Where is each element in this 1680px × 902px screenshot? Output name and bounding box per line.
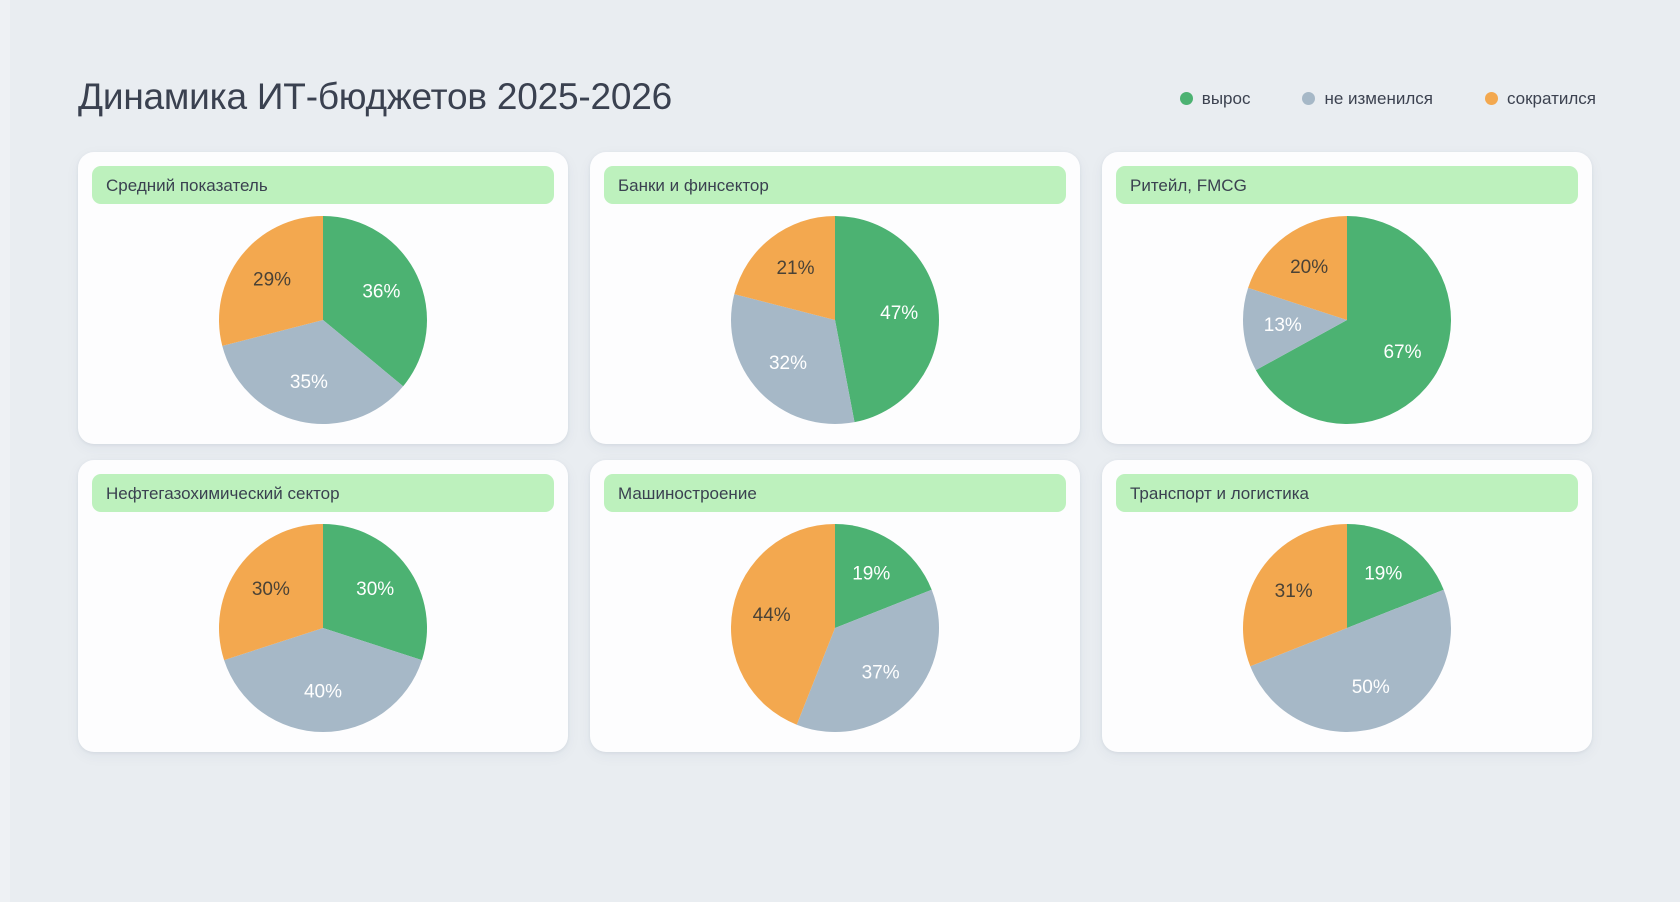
pie-chart: 67%13%20% bbox=[1237, 210, 1457, 430]
chart-area: 30%40%30% bbox=[92, 512, 554, 742]
pie-slice-label-1: 37% bbox=[862, 663, 900, 684]
pie-slice-label-0: 67% bbox=[1383, 342, 1421, 363]
card-title-pill: Нефтегазохимический сектор bbox=[92, 474, 554, 512]
pie-slice-label-0: 30% bbox=[356, 579, 394, 600]
legend-item-1[interactable]: не изменился bbox=[1302, 90, 1433, 107]
card-title-pill: Банки и финсектор bbox=[604, 166, 1066, 204]
pie-slice-label-2: 30% bbox=[252, 579, 290, 600]
pie-card: Нефтегазохимический сектор30%40%30% bbox=[78, 460, 568, 752]
dashboard-header: Динамика ИТ-бюджетов 2025-2026 выросне и… bbox=[78, 66, 1600, 128]
pie-slice-label-0: 36% bbox=[362, 282, 400, 303]
pie-card: Транспорт и логистика19%50%31% bbox=[1102, 460, 1592, 752]
card-title: Нефтегазохимический сектор bbox=[106, 485, 340, 502]
card-title-pill: Средний показатель bbox=[92, 166, 554, 204]
legend-item-0[interactable]: вырос bbox=[1180, 90, 1251, 107]
card-title-pill: Транспорт и логистика bbox=[1116, 474, 1578, 512]
pie-slice-label-1: 40% bbox=[304, 681, 342, 702]
legend-item-2[interactable]: сократился bbox=[1485, 90, 1596, 107]
pie-chart: 19%37%44% bbox=[725, 518, 945, 738]
chart-legend: выросне изменилсясократился bbox=[1180, 88, 1600, 107]
pie-slice-label-2: 44% bbox=[753, 605, 791, 626]
pie-card: Ритейл, FMCG67%13%20% bbox=[1102, 152, 1592, 444]
pie-slice-label-0: 47% bbox=[880, 303, 918, 324]
pie-chart: 30%40%30% bbox=[213, 518, 433, 738]
card-title: Транспорт и логистика bbox=[1130, 485, 1309, 502]
pie-slice-label-2: 20% bbox=[1290, 257, 1328, 278]
card-title-pill: Машиностроение bbox=[604, 474, 1066, 512]
card-title: Банки и финсектор bbox=[618, 177, 769, 194]
pie-card-grid: Средний показатель36%35%29%Банки и финсе… bbox=[78, 152, 1602, 752]
legend-item-label: вырос bbox=[1202, 90, 1251, 107]
pie-slice-label-2: 21% bbox=[776, 258, 814, 279]
page-title: Динамика ИТ-бюджетов 2025-2026 bbox=[78, 77, 672, 118]
pie-card: Банки и финсектор47%32%21% bbox=[590, 152, 1080, 444]
pie-chart: 19%50%31% bbox=[1237, 518, 1457, 738]
pie-slice-label-0: 19% bbox=[1364, 564, 1402, 585]
legend-item-label: не изменился bbox=[1324, 90, 1433, 107]
pie-card: Машиностроение19%37%44% bbox=[590, 460, 1080, 752]
chart-area: 67%13%20% bbox=[1116, 204, 1578, 434]
card-title: Ритейл, FMCG bbox=[1130, 177, 1247, 194]
pie-slice-label-1: 35% bbox=[290, 372, 328, 393]
chart-area: 36%35%29% bbox=[92, 204, 554, 434]
pie-slice-label-1: 32% bbox=[769, 353, 807, 374]
card-title-pill: Ритейл, FMCG bbox=[1116, 166, 1578, 204]
pie-chart: 36%35%29% bbox=[213, 210, 433, 430]
pie-slice-label-2: 29% bbox=[253, 269, 291, 290]
chart-area: 47%32%21% bbox=[604, 204, 1066, 434]
chart-area: 19%50%31% bbox=[1116, 512, 1578, 742]
pie-slice-label-0: 19% bbox=[852, 564, 890, 585]
legend-item-label: сократился bbox=[1507, 90, 1596, 107]
pie-chart: 47%32%21% bbox=[725, 210, 945, 430]
card-title: Машиностроение bbox=[618, 485, 757, 502]
legend-dot-unchanged bbox=[1302, 92, 1315, 105]
pie-card: Средний показатель36%35%29% bbox=[78, 152, 568, 444]
card-title: Средний показатель bbox=[106, 177, 268, 194]
legend-dot-grown bbox=[1180, 92, 1193, 105]
pie-slice-label-1: 13% bbox=[1264, 315, 1302, 336]
pie-slice-label-1: 50% bbox=[1352, 677, 1390, 698]
dashboard-page: Динамика ИТ-бюджетов 2025-2026 выросне и… bbox=[0, 0, 1680, 902]
pie-slice-label-2: 31% bbox=[1275, 581, 1313, 602]
chart-area: 19%37%44% bbox=[604, 512, 1066, 742]
legend-dot-reduced bbox=[1485, 92, 1498, 105]
